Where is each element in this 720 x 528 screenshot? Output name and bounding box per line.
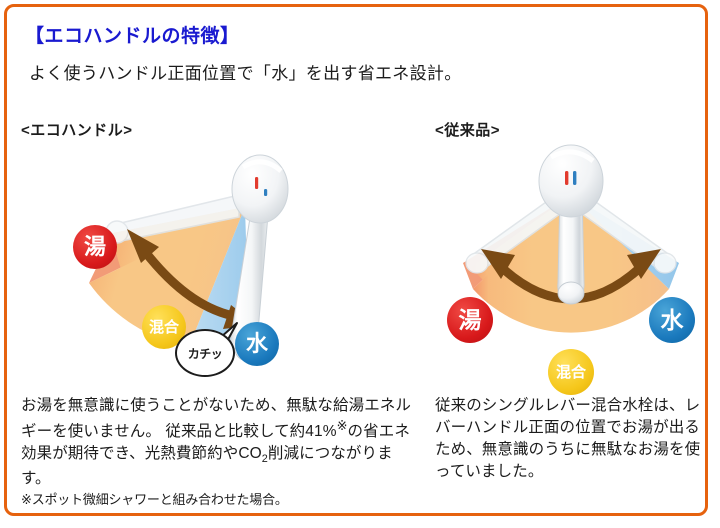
badge-cold: 水	[649, 297, 695, 343]
callout-bubble: カチッ	[175, 329, 235, 377]
badge-mix: 混合	[548, 349, 594, 395]
click-callout: カチッ	[175, 321, 241, 373]
footnote-eco: ※スポット微細シャワーと組み合わせた場合。	[21, 491, 421, 509]
page-title: 【エコハンドルの特徴】	[25, 21, 240, 48]
description-conventional: 従来のシングルレバー混合水栓は、レバーハンドル正面の位置でお湯が出るため、無意識…	[435, 395, 707, 483]
footnote-marker: ※	[337, 418, 348, 433]
description-eco: お湯を無意識に使うことがないため、無駄な給湯エネルギーを使いません。 従来品と比…	[21, 395, 421, 509]
diagram-eco-handle: 湯 混合 水 カチッ	[17, 137, 317, 387]
diagram-conventional-handle: 湯 混合 水	[427, 137, 717, 387]
badge-hot: 湯	[447, 297, 493, 343]
content-frame: 【エコハンドルの特徴】 よく使うハンドル正面位置で「水」を出す省エネ設計。 <エ…	[4, 4, 708, 516]
badge-hot: 湯	[73, 225, 117, 269]
lead-text: よく使うハンドル正面位置で「水」を出す省エネ設計。	[29, 59, 462, 84]
badge-cold: 水	[235, 322, 279, 366]
